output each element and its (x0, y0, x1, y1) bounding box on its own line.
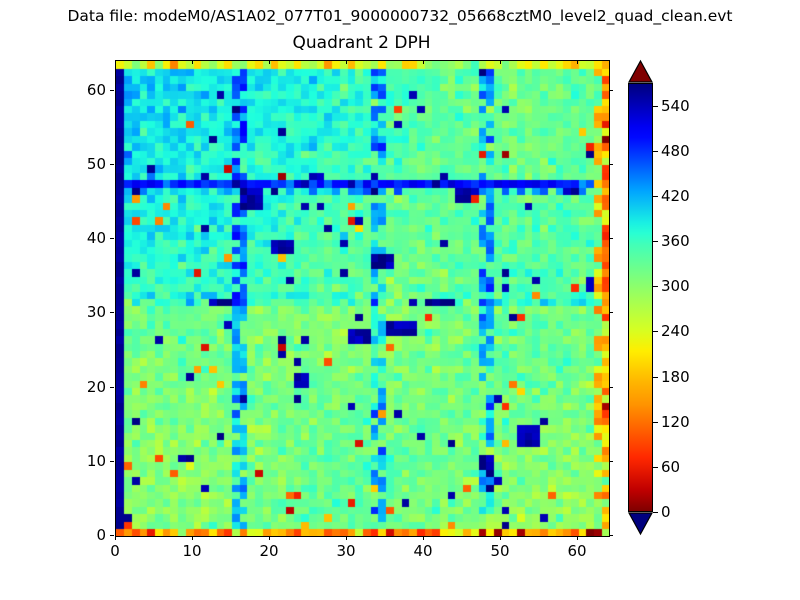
x-axis-tick (115, 536, 116, 540)
x-axis-tick (192, 60, 193, 64)
y-axis-ticklabel: 30 (46, 303, 106, 321)
y-axis-tick (609, 312, 613, 313)
colorbar-tick (653, 241, 658, 242)
x-axis-tick (423, 60, 424, 64)
y-axis-tick (609, 238, 613, 239)
colorbar-ticklabel: 60 (661, 458, 680, 476)
y-axis-ticklabel: 60 (46, 81, 106, 99)
y-axis-tick (609, 90, 613, 91)
colorbar-tick (653, 286, 658, 287)
colorbar-tick (653, 106, 658, 107)
y-axis-tick (609, 164, 613, 165)
x-axis-tick (269, 536, 270, 540)
x-axis-ticklabel: 50 (470, 542, 530, 560)
y-axis-tick (110, 535, 114, 536)
y-axis-tick (110, 387, 114, 388)
y-axis-tick (110, 90, 114, 91)
data-file-suptitle: Data file: modeM0/AS1A02_077T01_90000007… (0, 7, 800, 26)
heatmap-image[interactable] (116, 61, 609, 536)
colorbar-tick (653, 377, 658, 378)
y-axis-ticklabel: 20 (46, 378, 106, 396)
colorbar-ticklabel: 0 (661, 503, 671, 521)
x-axis-tick (423, 536, 424, 540)
x-axis-tick (577, 536, 578, 540)
y-axis-ticklabel: 0 (46, 526, 106, 544)
y-axis-ticklabels: 0102030405060 (42, 0, 106, 600)
y-axis-tick (110, 164, 114, 165)
x-axis-tick (192, 536, 193, 540)
y-axis-tick (110, 461, 114, 462)
colorbar-tick (653, 331, 658, 332)
colorbar-ticklabel: 360 (661, 232, 690, 250)
y-axis-tick (609, 387, 613, 388)
colorbar-extend-min-arrow-icon (628, 512, 653, 535)
figure-canvas: Data file: modeM0/AS1A02_077T01_90000007… (0, 0, 800, 600)
y-axis-ticklabel: 50 (46, 155, 106, 173)
y-axis-tick (609, 535, 613, 536)
colorbar-tick (653, 196, 658, 197)
colorbar-gradient (628, 83, 653, 512)
x-axis-ticklabel: 40 (393, 542, 453, 560)
colorbar-ticklabel: 420 (661, 187, 690, 205)
heatmap-axes[interactable] (115, 60, 610, 537)
colorbar[interactable] (628, 60, 653, 535)
colorbar-ticklabel: 480 (661, 142, 690, 160)
colorbar-ticklabel: 240 (661, 322, 690, 340)
y-axis-tick (609, 461, 613, 462)
x-axis-tick (269, 60, 270, 64)
x-axis-tick (500, 536, 501, 540)
x-axis-tick (346, 60, 347, 64)
colorbar-extend-max-arrow-icon (628, 60, 653, 83)
y-axis-tick (110, 238, 114, 239)
y-axis-ticklabel: 40 (46, 229, 106, 247)
x-axis-tick (115, 60, 116, 64)
x-axis-tick (500, 60, 501, 64)
x-axis-ticklabel: 30 (316, 542, 376, 560)
colorbar-ticklabel: 300 (661, 277, 690, 295)
colorbar-tick (653, 151, 658, 152)
x-axis-ticklabel: 10 (162, 542, 222, 560)
colorbar-ticklabel: 540 (661, 97, 690, 115)
y-axis-ticklabel: 10 (46, 452, 106, 470)
x-axis-ticklabel: 20 (239, 542, 299, 560)
colorbar-tick (653, 467, 658, 468)
colorbar-ticklabel: 180 (661, 368, 690, 386)
x-axis-ticklabel: 60 (547, 542, 607, 560)
x-axis-tick (577, 60, 578, 64)
page-title: Quadrant 2 DPH (115, 33, 608, 54)
colorbar-tick (653, 512, 658, 513)
y-axis-tick (110, 312, 114, 313)
colorbar-ticklabel: 120 (661, 413, 690, 431)
x-axis-tick (346, 536, 347, 540)
colorbar-tick (653, 422, 658, 423)
